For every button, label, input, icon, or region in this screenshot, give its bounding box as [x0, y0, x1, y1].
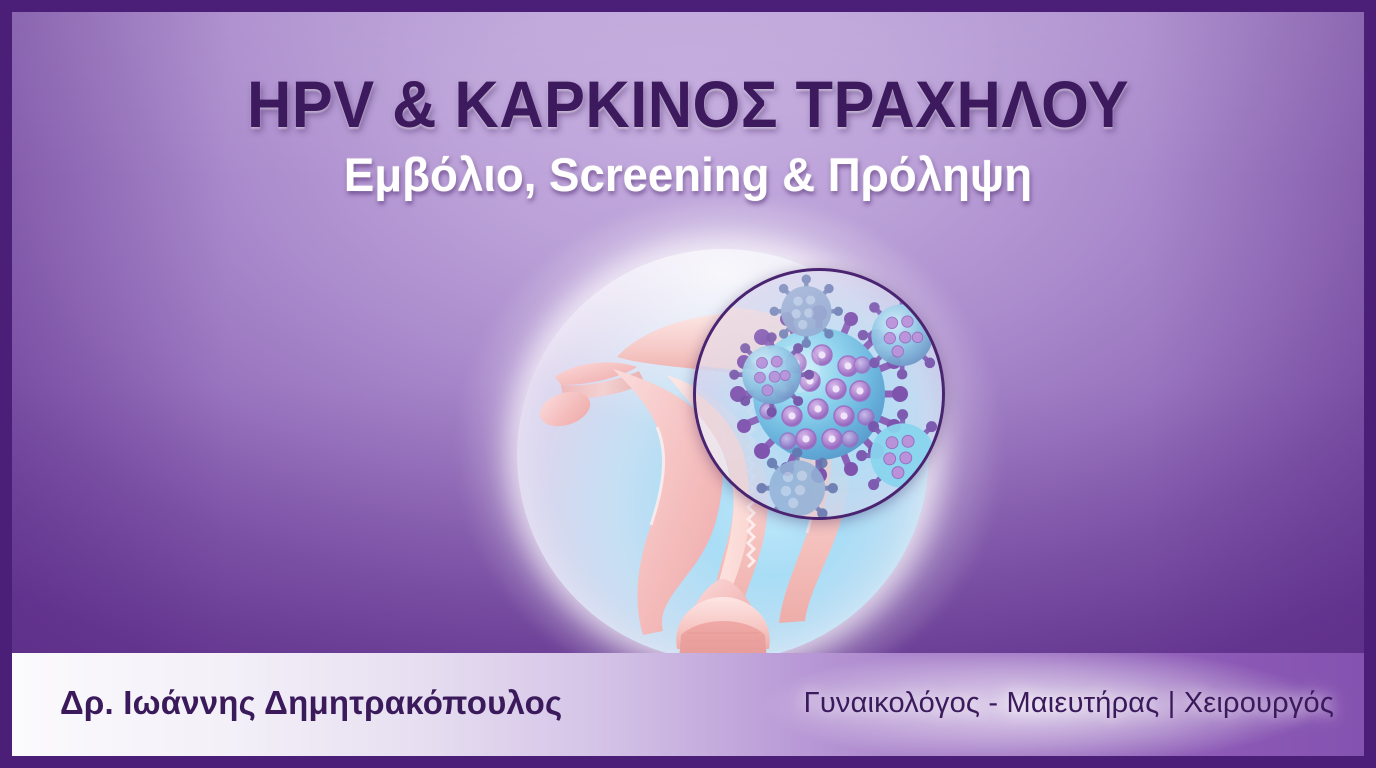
presenter-name: Δρ. Ιωάννης Δημητρακόπουλος: [60, 684, 562, 722]
hpv-magnifier-circle: [693, 268, 945, 520]
presentation-slide: HPV & ΚΑΡΚΙΝΟΣ ΤΡΑΧΗΛΟΥ Εμβόλιο, Screeni…: [0, 0, 1376, 768]
hpv-virus-particles: [696, 271, 942, 517]
hpv-illustration: [495, 240, 965, 653]
page-subtitle: Εμβόλιο, Screening & Πρόληψη: [32, 139, 1343, 201]
page-title: HPV & ΚΑΡΚΙΝΟΣ ΤΡΑΧΗΛΟΥ: [59, 12, 1316, 139]
presenter-credentials: Γυναικολόγος - Μαιευτήρας | Χειρουργός: [804, 687, 1334, 720]
virion-small-top: [770, 275, 843, 348]
title-block: HPV & ΚΑΡΚΙΝΟΣ ΤΡΑΧΗΛΟΥ Εμβόλιο, Screeni…: [12, 12, 1364, 201]
slide-footer: Δρ. Ιωάννης Δημητρακόπουλος Γυναικολόγος…: [12, 653, 1364, 756]
virion-small-top-left: [729, 332, 814, 417]
slide-hero-panel: HPV & ΚΑΡΚΙΝΟΣ ΤΡΑΧΗΛΟΥ Εμβόλιο, Screeni…: [12, 12, 1364, 653]
